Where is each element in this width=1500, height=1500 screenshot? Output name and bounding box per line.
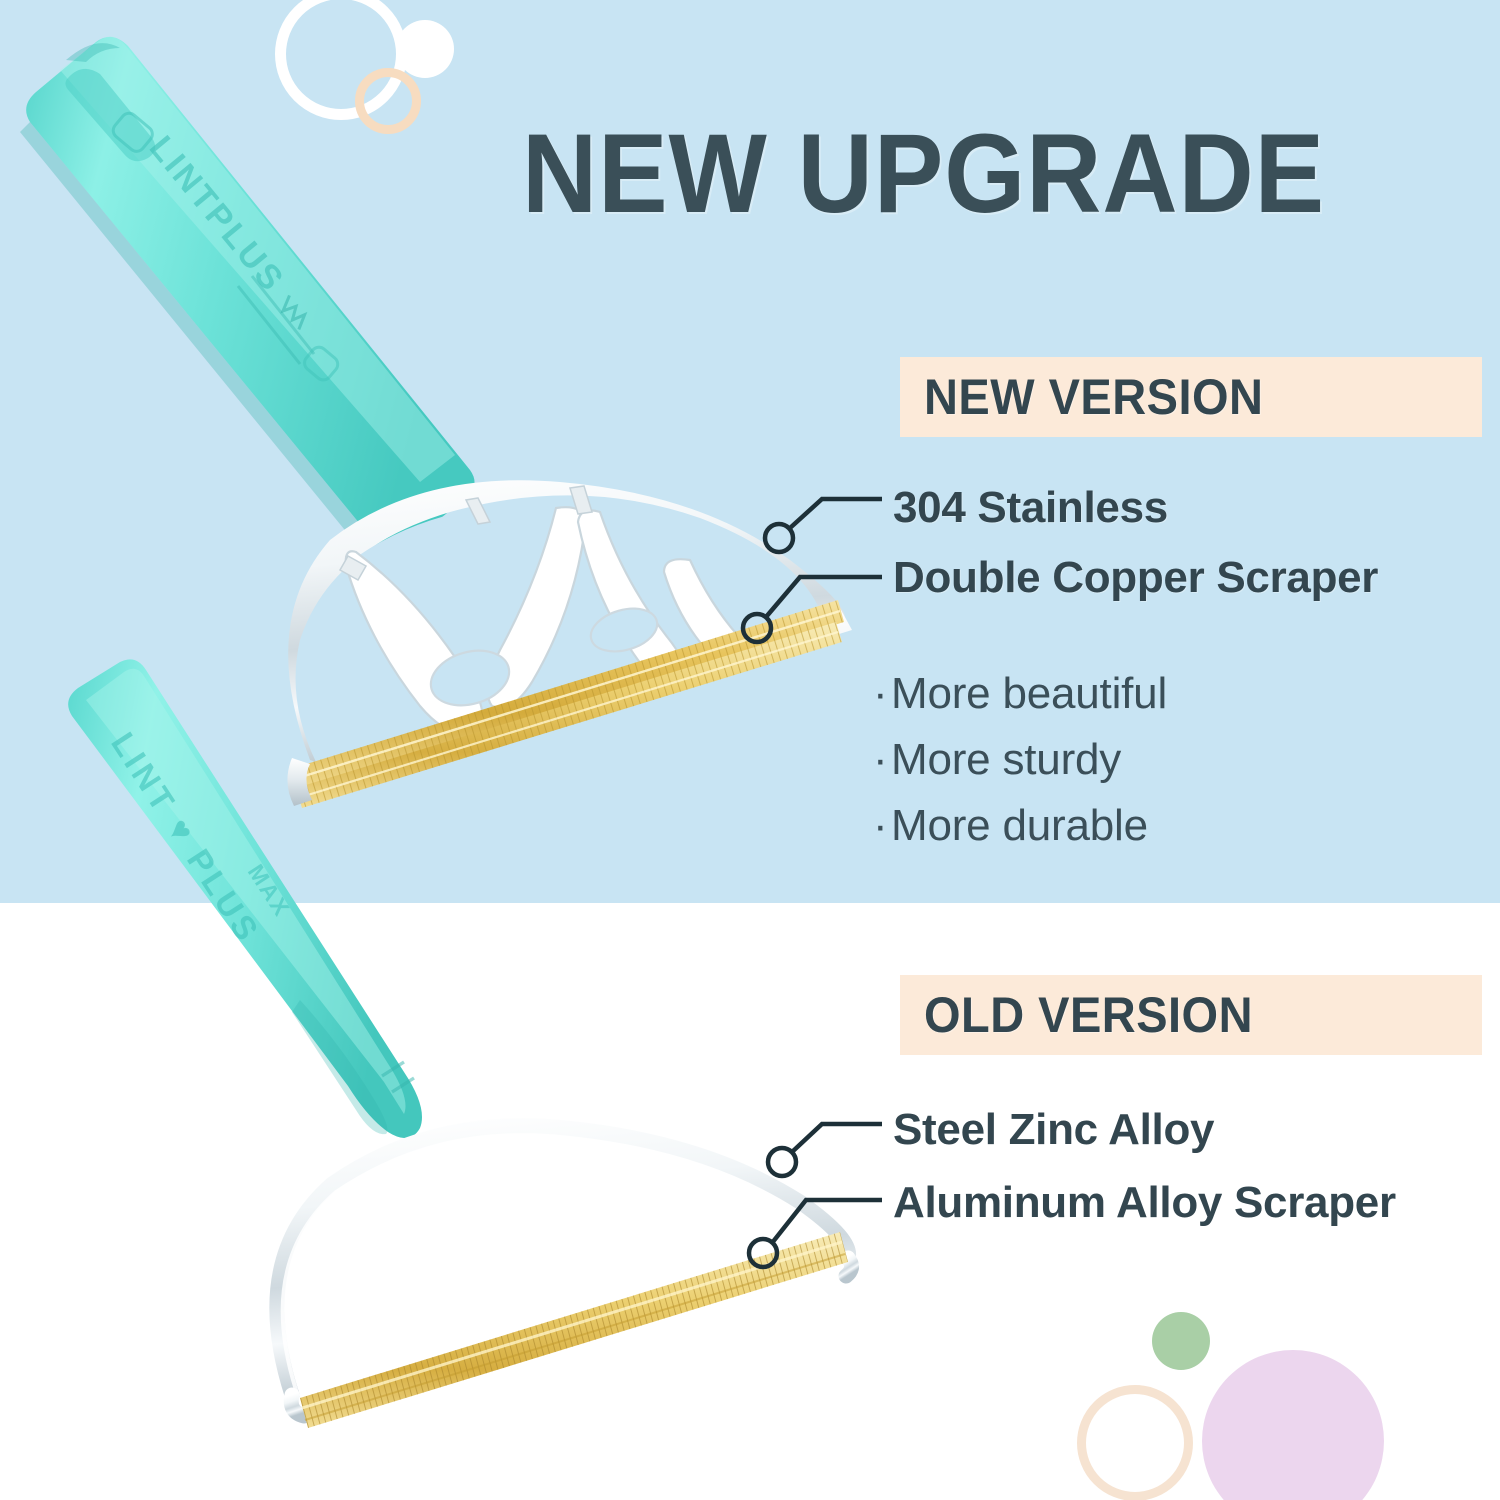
new-version-banner: NEW VERSION [900, 357, 1482, 437]
list-item: ·More sturdy [873, 727, 1167, 793]
callout-label-old-2: Aluminum Alloy Scraper [893, 1178, 1396, 1228]
new-version-handle: LINTPLUS [20, 37, 475, 566]
new-version-bullet-list: ·More beautiful ·More sturdy ·More durab… [873, 661, 1167, 859]
bullet-marker: · [873, 793, 891, 859]
old-version-banner-label: OLD VERSION [924, 986, 1253, 1044]
bullet-marker: · [873, 727, 891, 793]
bullet-text: More sturdy [891, 735, 1121, 784]
list-item: ·More durable [873, 793, 1167, 859]
callout-label-new-1: 304 Stainless [893, 483, 1168, 533]
bullet-text: More durable [891, 801, 1148, 850]
callout-label-old-1: Steel Zinc Alloy [893, 1105, 1214, 1155]
old-version-banner: OLD VERSION [900, 975, 1482, 1055]
bullet-text: More beautiful [891, 669, 1167, 718]
new-version-scraper-head [287, 480, 852, 808]
bullet-marker: · [873, 661, 891, 727]
old-version-tool: LINT ♥ PLUS MAX [68, 659, 851, 1428]
callout-label-new-2: Double Copper Scraper [893, 553, 1378, 603]
aluminum-alloy-scraper [300, 1232, 848, 1428]
list-item: ·More beautiful [873, 661, 1167, 727]
new-version-banner-label: NEW VERSION [924, 368, 1263, 426]
page-title: NEW UPGRADE [522, 118, 1415, 230]
infographic-canvas: LINTPLUS [0, 0, 1500, 1500]
